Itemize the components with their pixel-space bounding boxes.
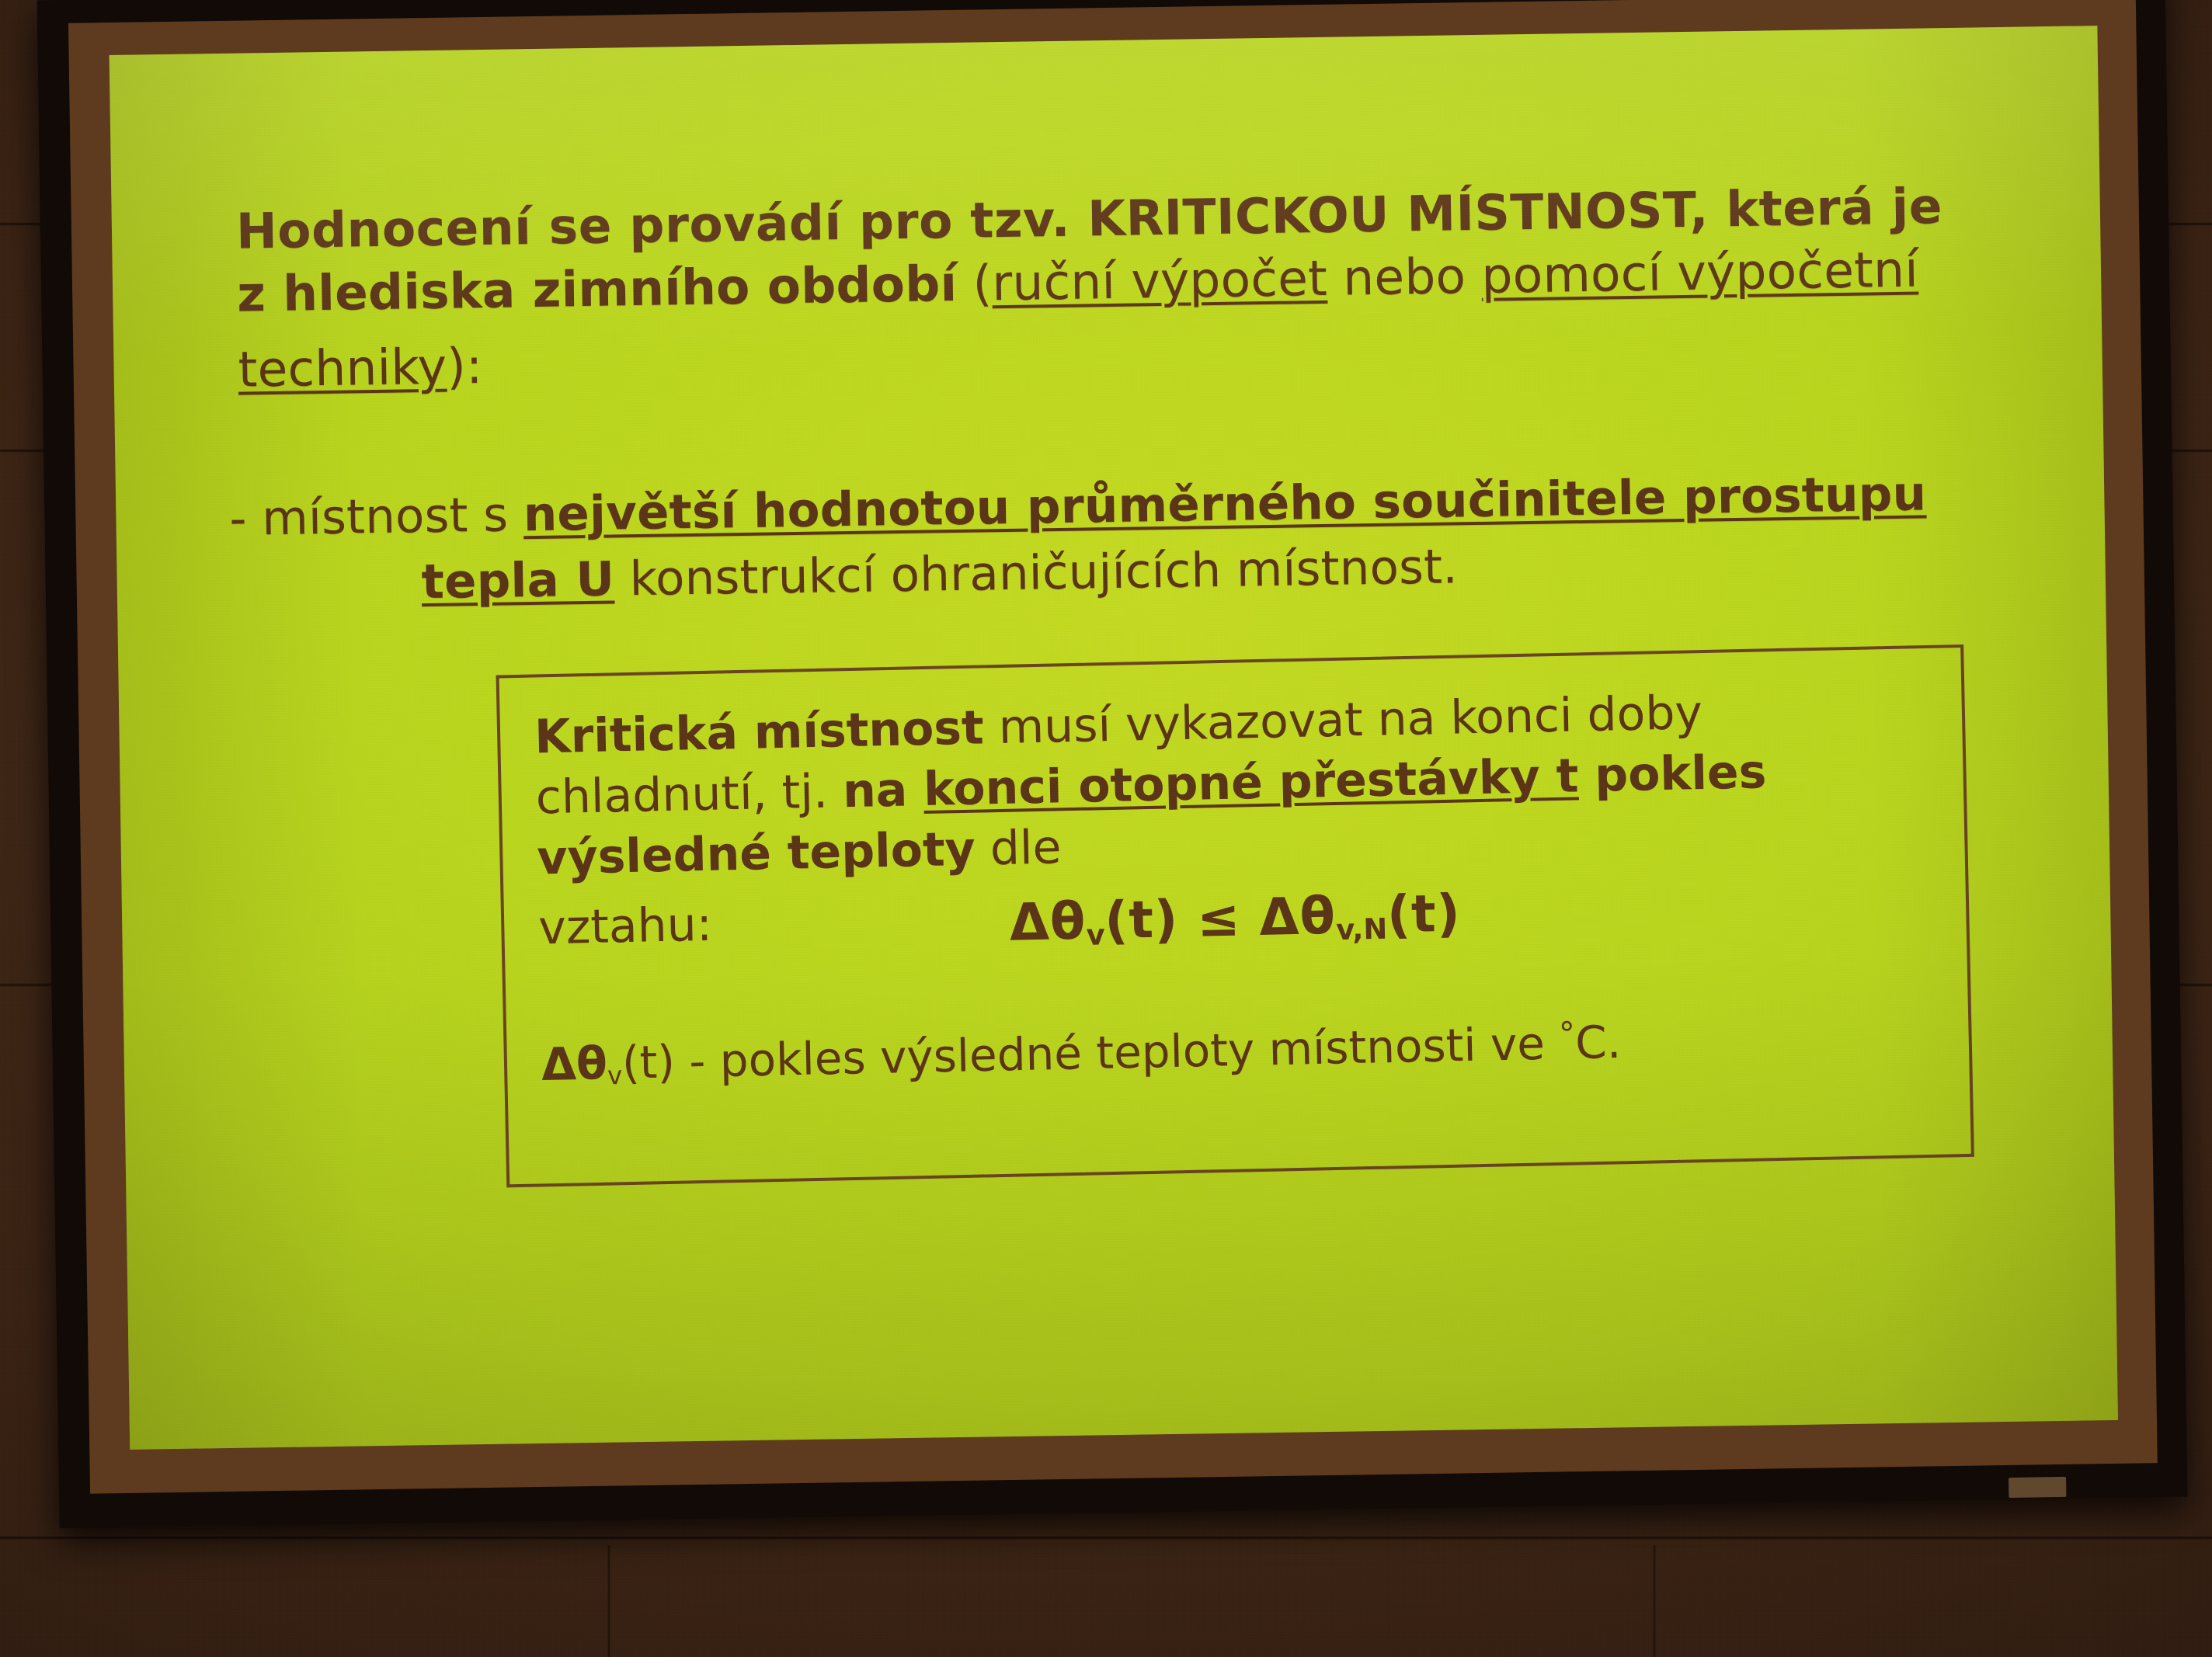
screen-mount-bracket <box>2009 1477 2066 1498</box>
legend-symbol-argument: (t) <box>621 1035 675 1089</box>
slide-paragraph-bullet: - místnost s největší hodnotou průměrnéh… <box>229 461 2079 617</box>
formula-rhs-argument: (t) <box>1386 884 1461 945</box>
legend-description: pokles výsledné teploty místnosti ve <box>719 1017 1560 1088</box>
formula-lhs-subscript: v <box>1086 918 1105 951</box>
legend-degree-sign: ° <box>1559 1015 1576 1053</box>
intro-line-3-close: ): <box>447 338 483 395</box>
bullet-emphasis-tepla-u: tepla U <box>421 552 614 610</box>
legend-symbol-delta: Δθ <box>541 1037 607 1091</box>
intro-line-2-open-paren: ( <box>957 255 993 312</box>
box-line-2-dle: dle <box>975 820 1062 876</box>
screen-outer-frame: Hodnocení se provádí pro tzv. KRITICKOU … <box>37 0 2188 1528</box>
bullet-dash-lead: - místnost s <box>229 487 523 547</box>
formula-legend: Δθv(t) - pokles výsledné teploty místnos… <box>541 1013 1622 1092</box>
intro-line-2-conj: nebo <box>1327 248 1482 307</box>
box-term-kriticka-mistnost: Kritická místnost <box>534 700 984 764</box>
screenshot-root: Hodnocení se provádí pro tzv. KRITICKOU … <box>0 0 2212 1657</box>
formula-rhs-delta: Δθ <box>1259 886 1337 947</box>
formula-lhs-delta: Δθ <box>1009 891 1087 953</box>
bullet-emphasis-u-value: největší hodnotou průměrného součinitele… <box>523 466 1926 542</box>
formula-rhs-subscript: v,N <box>1336 912 1388 947</box>
intro-line-2-bold: z hlediska zimního období <box>237 255 958 323</box>
box-emphasis-konci-prestavky: konci otopné přestávky t <box>923 749 1579 817</box>
intro-link-techniky: techniky <box>238 338 447 398</box>
intro-link-computer-aided: pomocí výpočetní <box>1481 241 1918 304</box>
definition-box-inner: Kritická místnost musí vykazovat na konc… <box>499 648 1971 1184</box>
intro-line-3: techniky): <box>238 313 2071 400</box>
definition-box: Kritická místnost musí vykazovat na konc… <box>496 644 1974 1187</box>
slide-paragraph-intro: Hodnocení se provádí pro tzv. KRITICKOU … <box>235 175 2071 401</box>
formula-relation-operator: ≤ <box>1196 888 1241 949</box>
formula-lhs-argument: (t) <box>1104 889 1178 950</box>
legend-symbol-subscript: v <box>607 1061 623 1090</box>
slide-content: Hodnocení se provádí pro tzv. KRITICKOU … <box>110 26 2118 1450</box>
projection-screen-assembly: Hodnocení se provádí pro tzv. KRITICKOU … <box>0 0 2212 1657</box>
box-line-2-na: na <box>842 762 924 818</box>
legend-unit: C. <box>1574 1016 1621 1069</box>
screen-frame-bevel: Hodnocení se provádí pro tzv. KRITICKOU … <box>68 0 2158 1494</box>
legend-dash: - <box>674 1034 720 1088</box>
projected-slide-surface: Hodnocení se provádí pro tzv. KRITICKOU … <box>110 26 2118 1450</box>
bullet-line-2-rest: konstrukcí ohraničujících místnost. <box>614 540 1459 607</box>
intro-link-manual-calc: ruční výpočet <box>992 250 1328 311</box>
